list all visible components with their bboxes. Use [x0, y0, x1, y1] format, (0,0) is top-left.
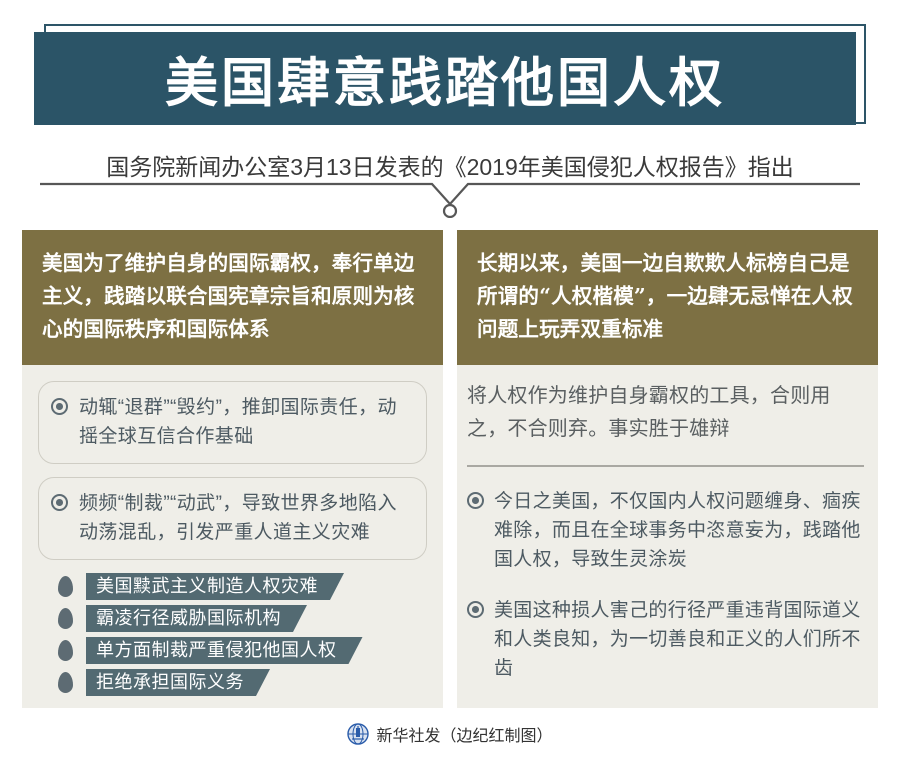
tag-label-3: 单方面制裁严重侵犯他国人权 [86, 637, 363, 664]
ring-bullet-icon [467, 601, 484, 618]
teardrop-marker-icon [58, 672, 73, 693]
ring-bullet-icon [51, 398, 68, 415]
divider-with-notch [40, 182, 860, 218]
panel-right: 长期以来，美国一边自欺欺人标榜自己是所谓的“人权楷模”，一边肆无忌惮在人权问题上… [457, 230, 878, 708]
footer-credit: 新华社发（边纪红制图） [376, 722, 552, 746]
teardrop-marker-icon [58, 576, 73, 597]
header: 美国肆意践踏他国人权 [0, 0, 900, 145]
footer: 新华社发（边纪红制图） [0, 718, 900, 750]
ring-bullet-icon [51, 494, 68, 511]
right-bullet-text-1: 今日之美国，不仅国内人权问题缠身、痼疾难除，而且在全球事务中恣意妄为，践踏他国人… [494, 487, 868, 574]
tag-row: 单方面制裁严重侵犯他国人权 [86, 637, 427, 664]
tag-row: 霸凌行径威胁国际机构 [86, 605, 427, 632]
left-bullet-text-1: 动辄“退群”“毁约”，推卸国际责任，动摇全球互信合作基础 [79, 393, 412, 451]
tag-row: 拒绝承担国际义务 [86, 669, 427, 696]
panel-left: 美国为了维护自身的国际霸权，奉行单边主义，践踏以联合国宪章宗旨和原则为核心的国际… [22, 230, 443, 708]
xinhua-logo-icon [347, 723, 369, 745]
panel-right-bullets: 今日之美国，不仅国内人权问题缠身、痼疾难除，而且在全球事务中恣意妄为，践踏他国人… [457, 467, 878, 683]
teardrop-marker-icon [58, 608, 73, 629]
teardrop-marker-icon [58, 640, 73, 661]
panel-right-headline: 长期以来，美国一边自欺欺人标榜自己是所谓的“人权楷模”，一边肆无忌惮在人权问题上… [457, 230, 878, 365]
panel-left-body: 动辄“退群”“毁约”，推卸国际责任，动摇全球互信合作基础 频频“制裁”“动武”，… [22, 365, 443, 696]
subtitle: 国务院新闻办公室3月13日发表的《2019年美国侵犯人权报告》指出 [0, 145, 900, 185]
tag-label-4: 拒绝承担国际义务 [86, 669, 270, 696]
right-bullet-1: 今日之美国，不仅国内人权问题缠身、痼疾难除，而且在全球事务中恣意妄为，践踏他国人… [467, 487, 868, 574]
tag-label-2: 霸凌行径威胁国际机构 [86, 605, 307, 632]
divider-icon [40, 182, 860, 218]
panel-left-headline: 美国为了维护自身的国际霸权，奉行单边主义，践踏以联合国宪章宗旨和原则为核心的国际… [22, 230, 443, 365]
tag-list: 美国黩武主义制造人权灾难 霸凌行径威胁国际机构 单方面制裁严重侵犯他国人权 拒绝… [38, 573, 427, 696]
tag-row: 美国黩武主义制造人权灾难 [86, 573, 427, 600]
left-bullet-box-2: 频频“制裁”“动武”，导致世界多地陷入动荡混乱，引发严重人道主义灾难 [38, 477, 427, 560]
right-bullet-2: 美国这种损人害己的行径严重违背国际道义和人类良知，为一切善良和正义的人们所不齿 [467, 596, 868, 683]
page-title: 美国肆意践踏他国人权 [34, 32, 856, 125]
left-bullet-box-1: 动辄“退群”“毁约”，推卸国际责任，动摇全球互信合作基础 [38, 381, 427, 464]
ring-bullet-icon [467, 492, 484, 509]
panel-right-paragraph: 将人权作为维护自身霸权的工具，合则用之，不合则弃。事实胜于雄辩 [457, 365, 878, 445]
panels-container: 美国为了维护自身的国际霸权，奉行单边主义，践踏以联合国宪章宗旨和原则为核心的国际… [0, 230, 900, 710]
tag-label-1: 美国黩武主义制造人权灾难 [86, 573, 344, 600]
right-bullet-text-2: 美国这种损人害己的行径严重违背国际道义和人类良知，为一切善良和正义的人们所不齿 [494, 596, 868, 683]
left-bullet-text-2: 频频“制裁”“动武”，导致世界多地陷入动荡混乱，引发严重人道主义灾难 [79, 489, 412, 547]
